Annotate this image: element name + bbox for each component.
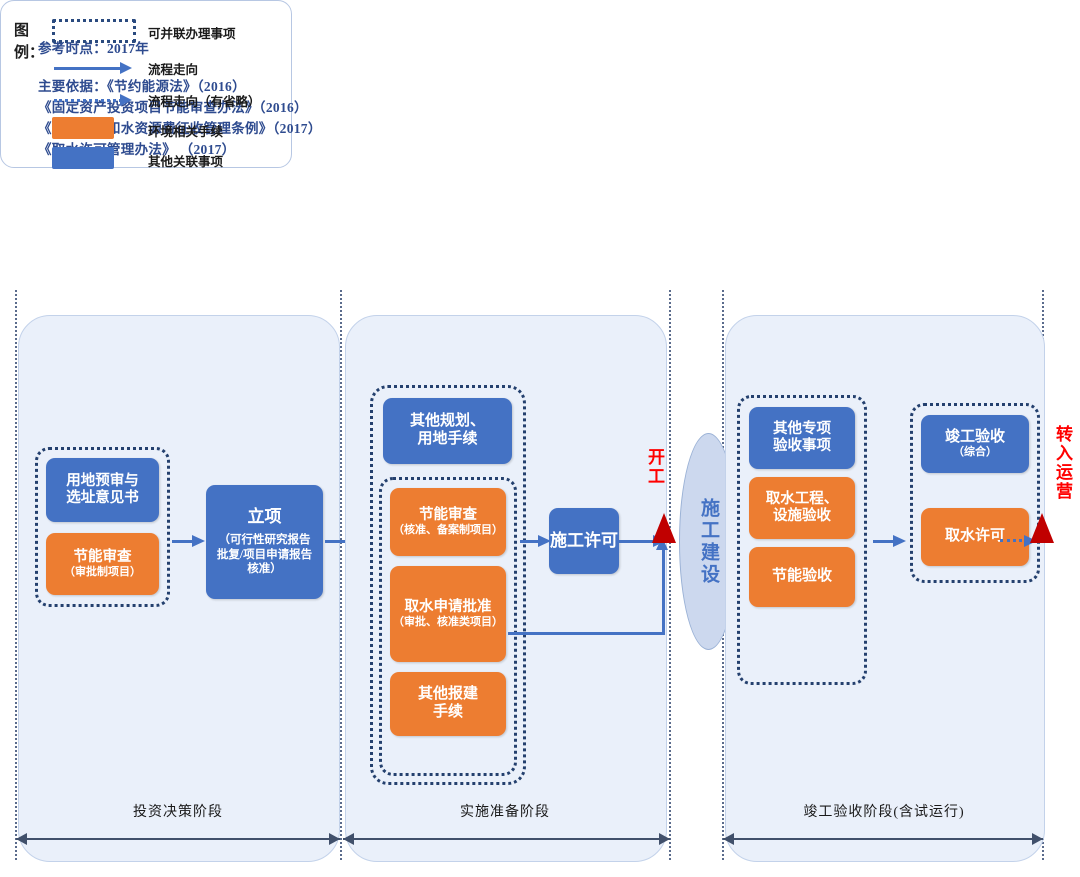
- node-energy-saving-acceptance[interactable]: 节能验收: [749, 547, 855, 607]
- arrow-head-dotted-icon: [120, 94, 132, 106]
- node-title: 节能验收: [772, 568, 832, 586]
- measure-arrow-right-icon: [329, 833, 340, 845]
- node-other-construction-filings[interactable]: 其他报建 手续: [390, 672, 506, 736]
- node-title: 节能审查: [419, 507, 477, 524]
- connector-bypass-horizontal: [508, 632, 665, 635]
- node-water-works-acceptance[interactable]: 取水工程、 设施验收: [749, 477, 855, 539]
- node-title-2: 用地手续: [417, 431, 477, 449]
- node-other-planning-land[interactable]: 其他规划、 用地手续: [383, 398, 512, 464]
- construction-label: 施工建设: [695, 498, 722, 586]
- arrow-head-icon: [538, 535, 551, 547]
- phase-label-investment-decision: 投资决策阶段: [18, 801, 338, 821]
- measure-arrow-left-icon: [343, 833, 354, 845]
- measure-arrow-left-icon: [723, 833, 734, 845]
- node-title: 竣工验收: [945, 429, 1005, 447]
- legend-item-environment: 环境相关手续: [52, 116, 223, 144]
- phase-label-completion-acceptance: 竣工验收阶段(含试运行): [725, 801, 1043, 821]
- legend-label-parallel: 可并联办理事项: [148, 23, 236, 42]
- legend-item-flow-omitted: 流程走向（有省略）: [52, 86, 261, 114]
- dotted-arrow-icon: [54, 99, 122, 102]
- node-subtitle: （核准、备案制项目）: [393, 524, 503, 538]
- arrow-head-icon: [120, 62, 132, 74]
- stage-divider-3: [669, 290, 671, 860]
- measure-bar-2: [343, 838, 670, 840]
- solid-arrow-icon: [54, 67, 122, 70]
- node-title: 取水工程、: [766, 491, 839, 508]
- process-flow-diagram: 用地预审与 选址意见书 节能审查 （审批制项目） 立项 （可行性研究报告批复/项…: [0, 255, 1080, 877]
- node-construction-permit[interactable]: 施工许可: [549, 508, 619, 574]
- node-title-2: 设施验收: [773, 508, 831, 525]
- arrow-head-icon: [893, 535, 906, 547]
- measure-bar-1: [16, 838, 340, 840]
- node-title: 节能审查: [74, 549, 132, 566]
- measure-bar-3: [723, 838, 1043, 840]
- node-title: 立项: [248, 507, 282, 527]
- stage-divider-1: [15, 290, 17, 860]
- blue-swatch-icon: [52, 147, 114, 169]
- node-title: 取水许可: [945, 528, 1005, 546]
- node-title: 施工许可: [550, 531, 618, 551]
- legend-item-parallel: 可并联办理事项: [52, 18, 236, 46]
- node-title: 取水申请批准: [405, 598, 492, 616]
- node-energy-review-filing[interactable]: 节能审查 （核准、备案制项目）: [390, 488, 506, 556]
- node-title: 其他专项: [773, 421, 831, 438]
- node-final-acceptance[interactable]: 竣工验收 （综合）: [921, 415, 1029, 473]
- node-title-2: 选址意见书: [66, 490, 139, 507]
- node-title: 用地预审与: [66, 473, 139, 490]
- node-land-preapproval[interactable]: 用地预审与 选址意见书: [46, 458, 159, 522]
- legend-label-environment: 环境相关手续: [148, 121, 223, 140]
- stage-divider-2: [340, 290, 342, 860]
- node-title: 其他报建: [418, 686, 478, 704]
- legend-item-other: 其他关联事项: [52, 146, 223, 174]
- legend-label-flow: 流程走向: [148, 59, 198, 78]
- connector-stage1-a: [172, 540, 194, 543]
- legend-item-flow: 流程走向: [52, 54, 198, 82]
- node-title-2: 手续: [433, 704, 463, 722]
- node-water-intake-application[interactable]: 取水申请批准 （审批、核准类项目）: [390, 566, 506, 662]
- dashed-box-icon: [52, 19, 136, 43]
- node-title: 其他规划、: [410, 413, 485, 431]
- node-title-2: 验收事项: [773, 438, 831, 455]
- arrow-head-icon: [192, 535, 205, 547]
- measure-arrow-left-icon: [16, 833, 27, 845]
- node-subtitle: （综合）: [953, 446, 997, 459]
- legend-title: 图例：: [14, 20, 44, 64]
- node-water-intake-permit[interactable]: 取水许可: [921, 508, 1029, 566]
- start-construction-marker: [652, 513, 676, 543]
- node-project-initiation[interactable]: 立项 （可行性研究报告批复/项目申请报告核准）: [206, 485, 323, 599]
- node-subtitle: （审批、核准类项目）: [393, 616, 503, 630]
- measure-arrow-right-icon: [659, 833, 670, 845]
- node-energy-review-approval[interactable]: 节能审查 （审批制项目）: [46, 533, 159, 595]
- transfer-to-operation-marker: [1030, 513, 1054, 543]
- start-construction-label: 开工: [646, 448, 663, 486]
- phase-label-implementation-prep: 实施准备阶段: [345, 801, 665, 821]
- node-subtitle: （可行性研究报告批复/项目申请报告核准）: [214, 533, 315, 578]
- legend-label-flow-omitted: 流程走向（有省略）: [148, 91, 261, 110]
- orange-swatch-icon: [52, 117, 114, 139]
- transfer-to-operation-label: 转入运营: [1054, 425, 1071, 501]
- legend-label-other: 其他关联事项: [148, 151, 223, 170]
- measure-arrow-right-icon: [1032, 833, 1043, 845]
- connector-bypass-vertical: [662, 548, 665, 634]
- node-subtitle: （审批制项目）: [64, 566, 141, 579]
- node-other-special-acceptance[interactable]: 其他专项 验收事项: [749, 407, 855, 469]
